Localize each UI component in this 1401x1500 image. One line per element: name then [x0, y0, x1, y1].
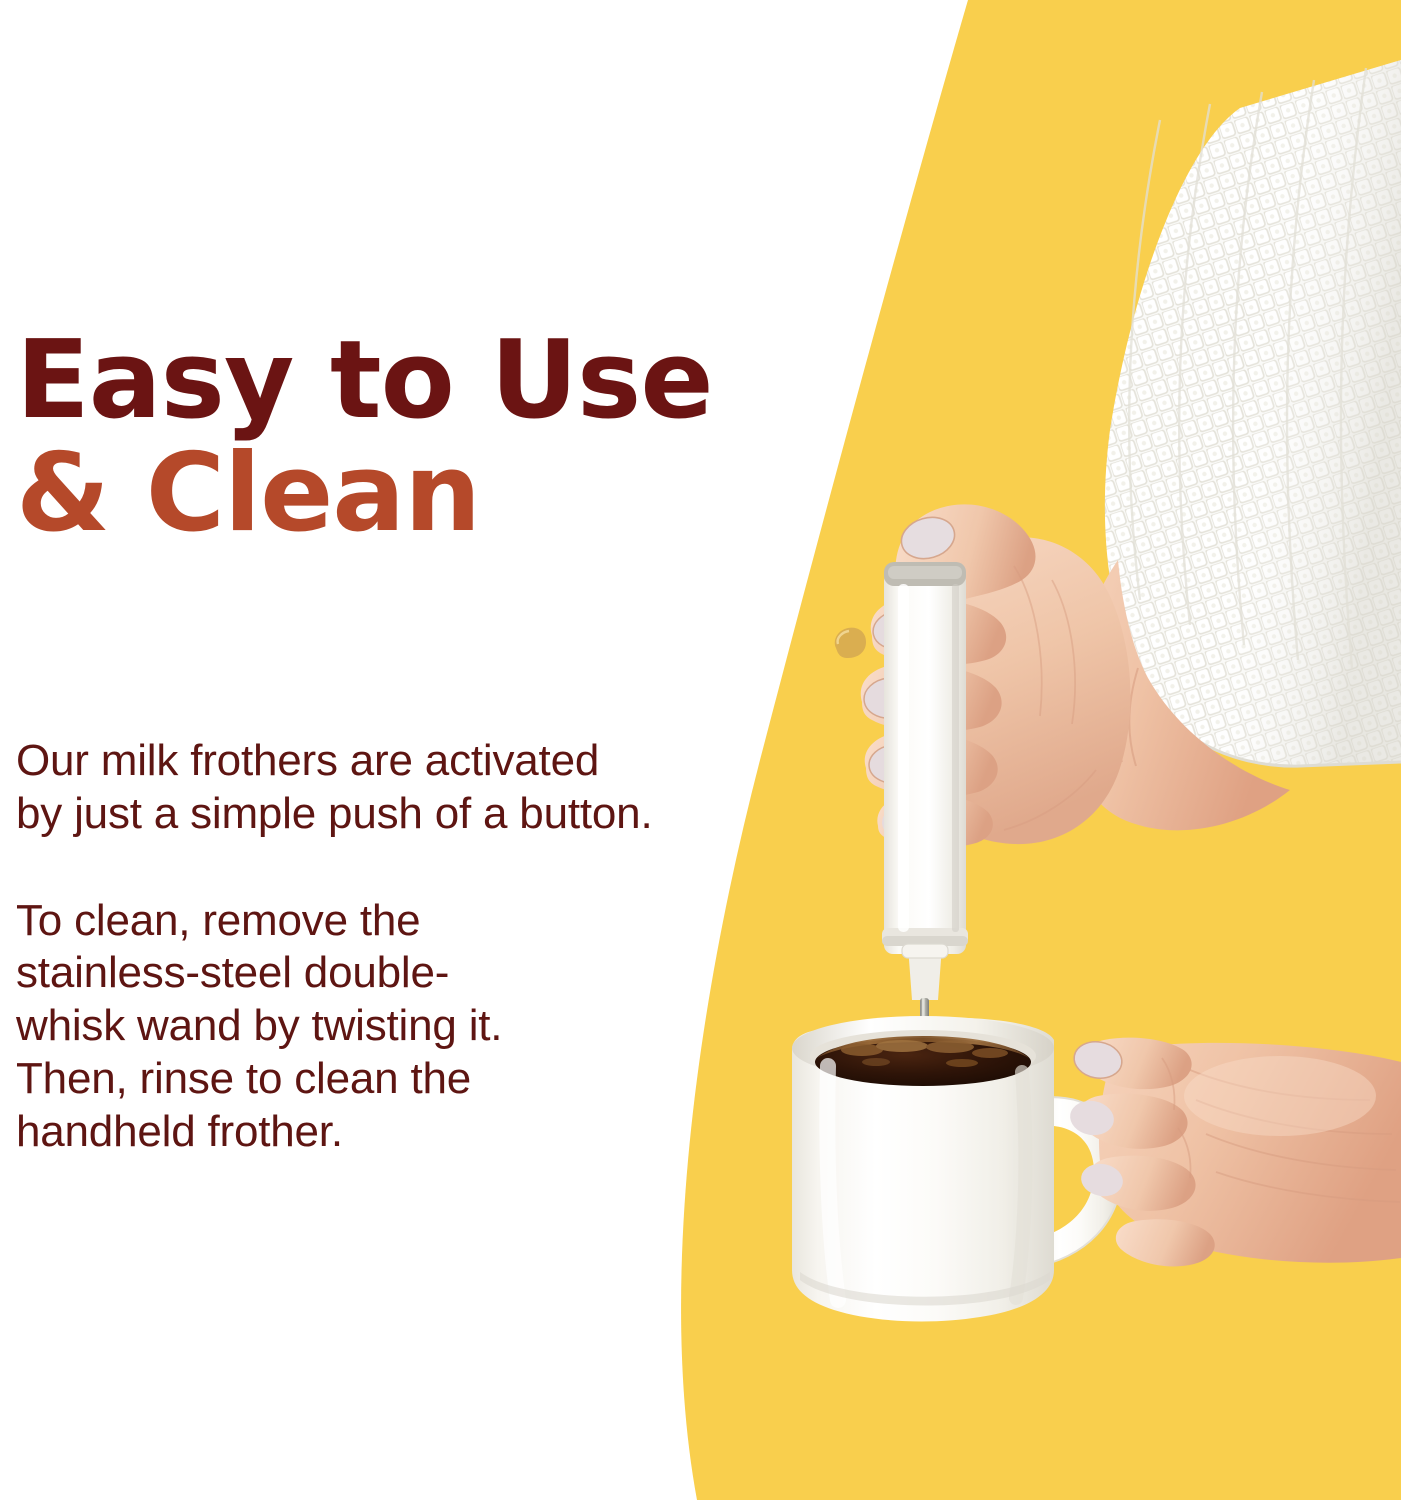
- headline-line-1: Easy to Use: [16, 330, 976, 433]
- promo-graphic: Easy to Use & Clean Our milk frothers ar…: [0, 0, 1401, 1500]
- body-copy: Our milk frothers are activated by just …: [16, 735, 776, 1159]
- body-paragraph-2: To clean, remove the stainless-steel dou…: [16, 895, 776, 1159]
- headline-line-2: & Clean: [16, 443, 976, 546]
- body-paragraph-1: Our milk frothers are activated by just …: [16, 735, 776, 841]
- headline: Easy to Use & Clean: [16, 330, 976, 545]
